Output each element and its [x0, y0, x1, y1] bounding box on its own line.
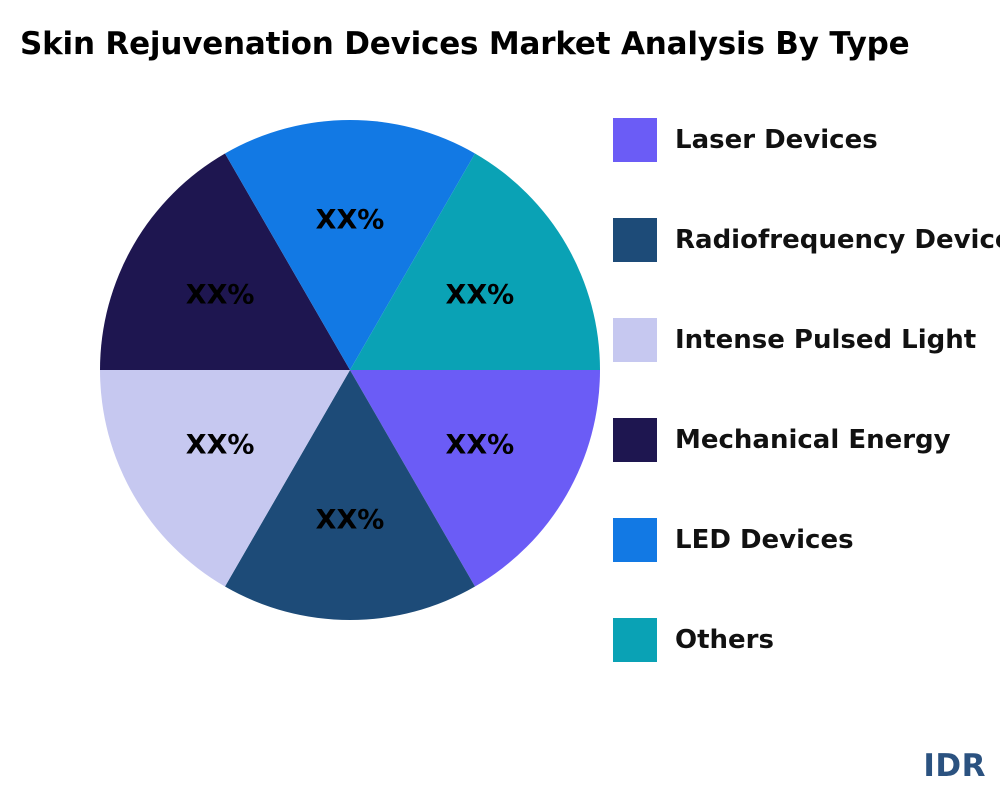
pie-slice-label: XX%	[446, 280, 515, 311]
legend-item[interactable]: LED Devices	[613, 518, 1000, 618]
legend-item[interactable]: Radiofrequency Devices	[613, 218, 1000, 318]
legend-item-label: Intense Pulsed Light	[675, 318, 976, 362]
legend-swatch-icon	[613, 118, 657, 162]
pie-chart: XX%XX%XX%XX%XX%XX%	[100, 120, 600, 620]
pie-chart-svg: XX%XX%XX%XX%XX%XX%	[100, 120, 600, 620]
legend-item-label: Laser Devices	[675, 118, 878, 162]
legend-item-label: Mechanical Energy	[675, 418, 951, 462]
legend-swatch-icon	[613, 318, 657, 362]
legend-swatch-icon	[613, 418, 657, 462]
legend: Laser DevicesRadiofrequency DevicesInten…	[613, 118, 1000, 718]
legend-item[interactable]: Laser Devices	[613, 118, 1000, 218]
legend-item-label: LED Devices	[675, 518, 854, 562]
legend-swatch-icon	[613, 618, 657, 662]
pie-slice-label: XX%	[316, 205, 385, 236]
legend-swatch-icon	[613, 518, 657, 562]
legend-item[interactable]: Intense Pulsed Light	[613, 318, 1000, 418]
legend-item[interactable]: Mechanical Energy	[613, 418, 1000, 518]
pie-slice-label: XX%	[316, 505, 385, 536]
idr-watermark: IDR	[923, 748, 986, 784]
pie-slice-label: XX%	[186, 280, 255, 311]
pie-slice-label: XX%	[186, 430, 255, 461]
legend-item-label: Others	[675, 618, 774, 662]
legend-item[interactable]: Others	[613, 618, 1000, 718]
pie-slice-label: XX%	[446, 430, 515, 461]
legend-item-label: Radiofrequency Devices	[675, 218, 1000, 262]
page-title: Skin Rejuvenation Devices Market Analysi…	[20, 26, 909, 62]
legend-swatch-icon	[613, 218, 657, 262]
